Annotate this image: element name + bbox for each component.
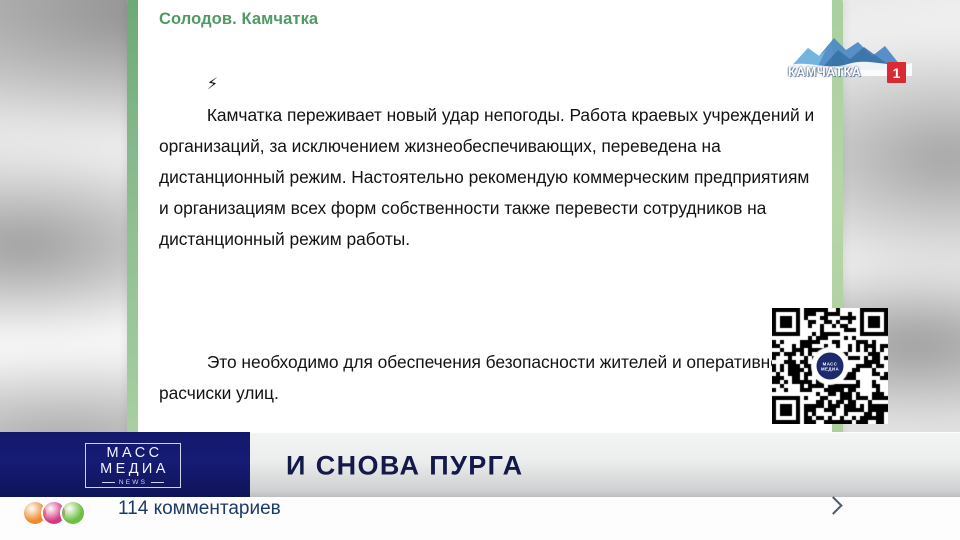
chyron-logo-block: МАСС МЕДИА NEWS — [0, 432, 250, 498]
logo-rule-right — [151, 482, 164, 483]
chevron-right-icon[interactable] — [824, 496, 842, 514]
watermark-channel-name: КАМЧАТКА — [788, 65, 861, 79]
qr-badge-line2: МЕДИА — [821, 366, 839, 371]
logo-rule-left — [102, 482, 115, 483]
post-body-2: Это необходимо для обеспечения безопасно… — [159, 316, 818, 440]
lower-third-chyron: МАСС МЕДИА NEWS И СНОВА ПУРГА — [0, 432, 960, 498]
mass-media-logo-line3: NEWS — [119, 479, 147, 486]
mass-media-logo-line2: МЕДИА — [100, 461, 169, 477]
comments-count-label: 114 комментариев — [118, 498, 281, 520]
watermark-channel-number: 1 — [887, 62, 906, 83]
qr-center-logo: МАСС МЕДИА — [815, 351, 846, 382]
chyron-headline-block: И СНОВА ПУРГА — [250, 432, 960, 498]
post-paragraph-1: Камчатка переживает новый удар непогоды.… — [159, 105, 819, 249]
post-body: ⚡ Камчатка переживает новый удар непогод… — [159, 37, 818, 286]
post-comments-row[interactable]: 114 комментариев — [0, 498, 960, 540]
channel-watermark: КАМЧАТКА 1 — [786, 26, 912, 88]
mass-media-logo: МАСС МЕДИА NEWS — [85, 443, 181, 488]
mass-media-logo-line3-row: NEWS — [102, 479, 164, 486]
chyron-headline: И СНОВА ПУРГА — [286, 450, 524, 481]
post-channel-title: Солодов. Камчатка — [159, 10, 818, 29]
qr-code[interactable]: МАСС МЕДИА — [772, 308, 888, 424]
reaction-green[interactable] — [60, 500, 86, 526]
post-paragraph-2: Это необходимо для обеспечения безопасно… — [159, 352, 811, 403]
mass-media-logo-line1: МАСС — [107, 446, 163, 461]
reaction-group[interactable] — [22, 500, 86, 526]
tv-broadcast-frame: Солодов. Камчатка ⚡ Камчатка переживает … — [0, 0, 960, 540]
high-voltage-icon: ⚡ — [207, 76, 218, 93]
